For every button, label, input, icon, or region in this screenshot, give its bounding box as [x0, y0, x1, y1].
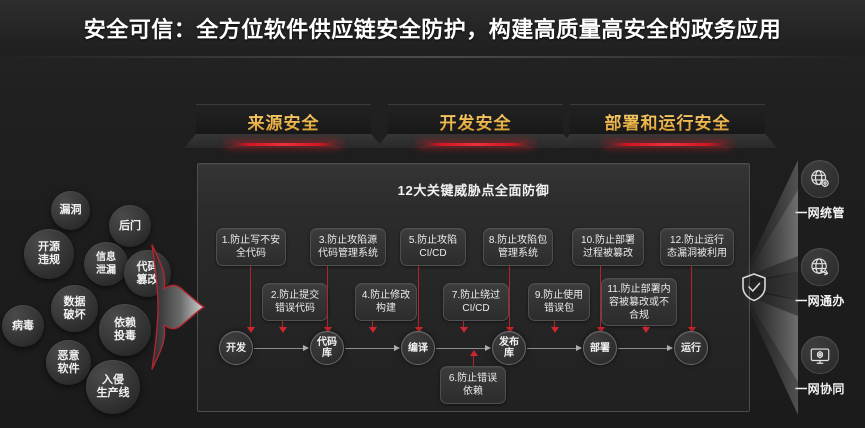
banner-glow-line — [228, 143, 340, 146]
connector-arrow-8 — [554, 321, 555, 327]
threat-box-9[interactable]: 9.防止使用 错误包 — [528, 283, 590, 321]
threat-box-3[interactable]: 3.防止攻陷源 代码管理系统 — [310, 228, 386, 266]
threat-bubble-10[interactable]: 入侵 生产线 — [86, 360, 140, 414]
connector-arrow-2 — [282, 321, 283, 327]
threat-bubble-2[interactable]: 后门 — [109, 205, 151, 247]
banner-label: 来源安全 — [248, 104, 320, 134]
pipeline-link-5 — [618, 348, 672, 349]
connector-arrow-10 — [645, 326, 646, 327]
pipeline-stage-6[interactable]: 运行 — [674, 331, 708, 365]
threat-box-6[interactable]: 6.防止错误 依赖 — [440, 366, 506, 404]
pipeline-stage-3[interactable]: 编译 — [401, 331, 435, 365]
threat-bubble-6[interactable]: 数据 破坏 — [51, 285, 98, 332]
pipeline-stage-1[interactable]: 开发 — [219, 331, 253, 365]
shield-check-icon — [740, 272, 768, 302]
threat-bubble-9[interactable]: 恶意 软件 — [46, 340, 91, 385]
pipeline-link-3 — [436, 348, 490, 349]
section-banner-3: 部署和运行安全 — [570, 104, 765, 148]
banner-label: 部署和运行安全 — [605, 104, 731, 134]
threat-box-10[interactable]: 10.防止部署 过程被篡改 — [572, 228, 644, 266]
connector-arrow-5 — [418, 266, 419, 327]
connector-arrow-9 — [600, 266, 601, 327]
threat-box-7[interactable]: 7.防止绕过 CI/CD — [443, 283, 509, 321]
section-banner-1: 来源安全 — [196, 104, 371, 148]
pipeline-link-2 — [345, 348, 399, 349]
threat-box-12[interactable]: 12.防止运行 态漏洞被利用 — [660, 228, 734, 266]
threat-box-1[interactable]: 1.防止写不安 全代码 — [216, 228, 286, 266]
threat-bubble-4[interactable]: 信息 泄漏 — [84, 242, 128, 286]
connector-arrow-6 — [463, 321, 464, 327]
connector-arrow-7 — [509, 266, 510, 327]
threat-bubble-8[interactable]: 病毒 — [2, 305, 44, 347]
slide-canvas: 安全可信：全方位软件供应链安全防护，构建高质量高安全的政务应用 来源安全开发安全… — [0, 0, 865, 428]
monitor-share-icon[interactable] — [801, 336, 839, 374]
threat-box-11[interactable]: 11.防止部署内 容被篡改或不 合规 — [601, 278, 677, 326]
banner-label: 开发安全 — [440, 104, 512, 134]
connector-arrow-4 — [372, 321, 373, 327]
pipeline-stage-5[interactable]: 部署 — [583, 331, 617, 365]
slide-title-bar: 安全可信：全方位软件供应链安全防护，构建高质量高安全的政务应用 — [0, 0, 865, 56]
connector-arrow-11 — [691, 266, 692, 327]
title-divider — [0, 56, 865, 58]
pipeline-stage-2[interactable]: 代码 库 — [310, 331, 344, 365]
pipeline-link-4 — [527, 348, 581, 349]
threat-bubble-3[interactable]: 开源 违规 — [24, 229, 74, 279]
connector-arrow-3 — [327, 266, 328, 327]
pipeline-stage-4[interactable]: 发布 库 — [492, 331, 526, 365]
page-title: 安全可信：全方位软件供应链安全防护，构建高质量高安全的政务应用 — [84, 12, 782, 44]
connector-arrow-1 — [250, 266, 251, 327]
threat-box-5[interactable]: 5.防止攻陷 CI/CD — [400, 228, 466, 266]
globe-gear-icon[interactable] — [801, 160, 839, 198]
connector-arrow-up-6 — [473, 356, 474, 366]
panel-title: 12大关键威胁点全面防御 — [198, 180, 749, 199]
globe-arrow-icon[interactable] — [801, 248, 839, 286]
threat-bubble-7[interactable]: 依赖 投毒 — [99, 304, 151, 356]
section-banner-2: 开发安全 — [388, 104, 563, 148]
banner-glow-line — [420, 143, 532, 146]
banner-glow-line — [605, 143, 730, 146]
threat-box-8[interactable]: 8.防止攻陷包 管理系统 — [483, 228, 553, 266]
threat-box-2[interactable]: 2.防止提交 错误代码 — [262, 283, 328, 321]
pipeline-link-1 — [254, 348, 308, 349]
threat-box-4[interactable]: 4.防止修改 构建 — [355, 283, 417, 321]
threat-bubble-1[interactable]: 漏洞 — [51, 191, 90, 230]
big-red-arrow-icon — [150, 243, 206, 371]
